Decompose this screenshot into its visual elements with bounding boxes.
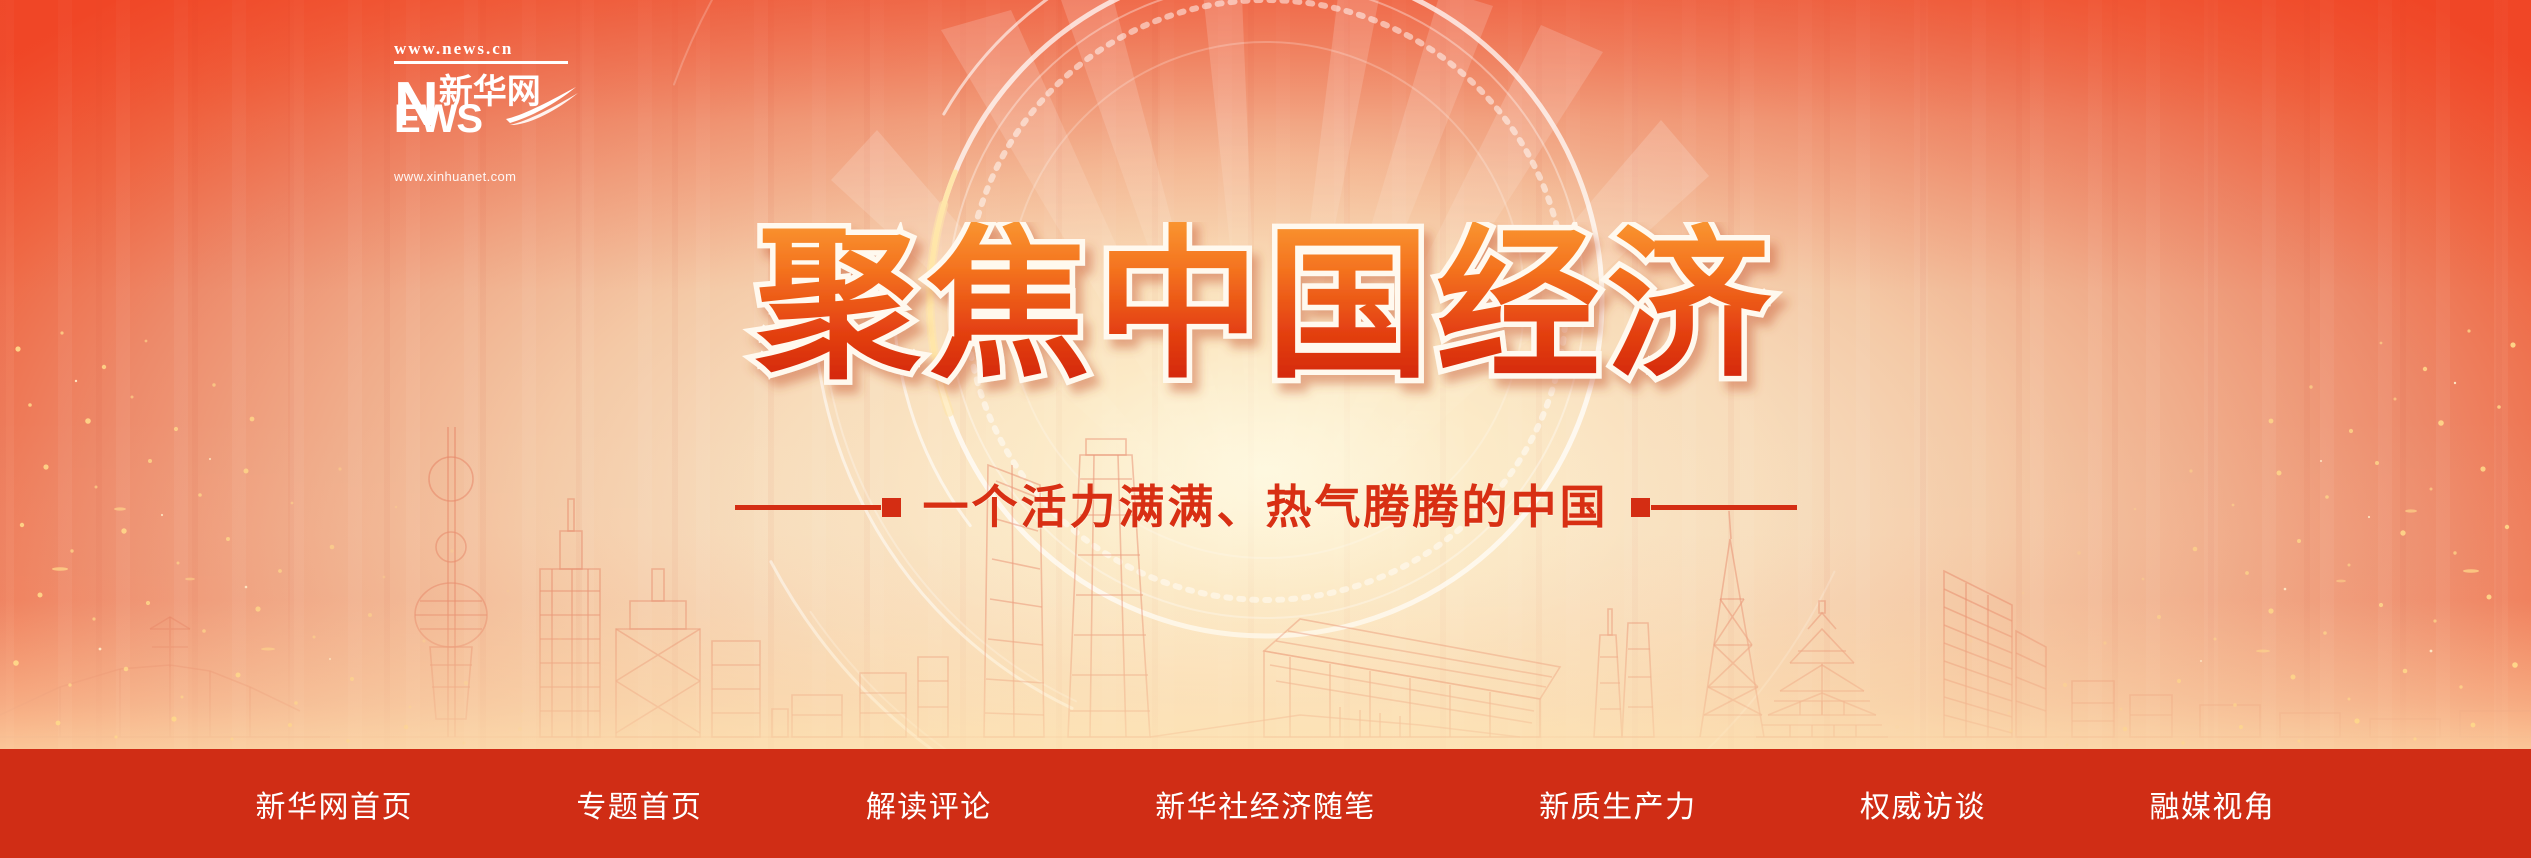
nav-items-container: 新华网首页 专题首页 解读评论 新华社经济随笔 新质生产力 权威访谈 融媒视角 xyxy=(231,782,2301,826)
logo-mark: N 新华网 EWS xyxy=(394,67,574,129)
decor-square-left xyxy=(882,498,901,517)
logo-divider-rule xyxy=(394,61,568,64)
subtitle-decor-left xyxy=(735,498,901,517)
logo-url-bottom: www.xinhuanet.com xyxy=(394,169,516,184)
logo-word-news: EWS xyxy=(394,99,482,139)
banner-root: www.news.cn N 新华网 EWS www.xinhuanet.com xyxy=(0,0,2531,858)
subtitle-decor-right xyxy=(1631,498,1797,517)
logo-swoosh-icon xyxy=(504,85,578,125)
nav-item-xinhua-home[interactable]: 新华网首页 xyxy=(256,782,414,826)
xinhua-logo[interactable]: www.news.cn N 新华网 EWS www.xinhuanet.com xyxy=(394,40,574,158)
page-title: 聚焦中国经济 xyxy=(0,222,2531,412)
subtitle-row: 一个活力满满、热气腾腾的中国 xyxy=(0,480,2531,534)
nav-item-media-perspective[interactable]: 融媒视角 xyxy=(2149,782,2275,826)
decor-line-left xyxy=(735,505,881,510)
nav-item-analysis-comment[interactable]: 解读评论 xyxy=(866,782,992,826)
nav-item-authority-interview[interactable]: 权威访谈 xyxy=(1860,782,1986,826)
logo-url-top: www.news.cn xyxy=(394,40,574,57)
nav-item-economic-essay[interactable]: 新华社经济随笔 xyxy=(1155,782,1376,826)
nav-item-new-productivity[interactable]: 新质生产力 xyxy=(1539,782,1697,826)
decor-line-right xyxy=(1651,505,1797,510)
main-navigation-bar: 新华网首页 专题首页 解读评论 新华社经济随笔 新质生产力 权威访谈 融媒视角 xyxy=(0,749,2531,858)
page-title-text: 聚焦中国经济 xyxy=(754,222,1775,397)
nav-item-topic-home[interactable]: 专题首页 xyxy=(576,782,702,826)
background-top-fade xyxy=(0,0,2531,858)
decor-square-right xyxy=(1631,498,1650,517)
page-subtitle: 一个活力满满、热气腾腾的中国 xyxy=(923,480,1609,534)
